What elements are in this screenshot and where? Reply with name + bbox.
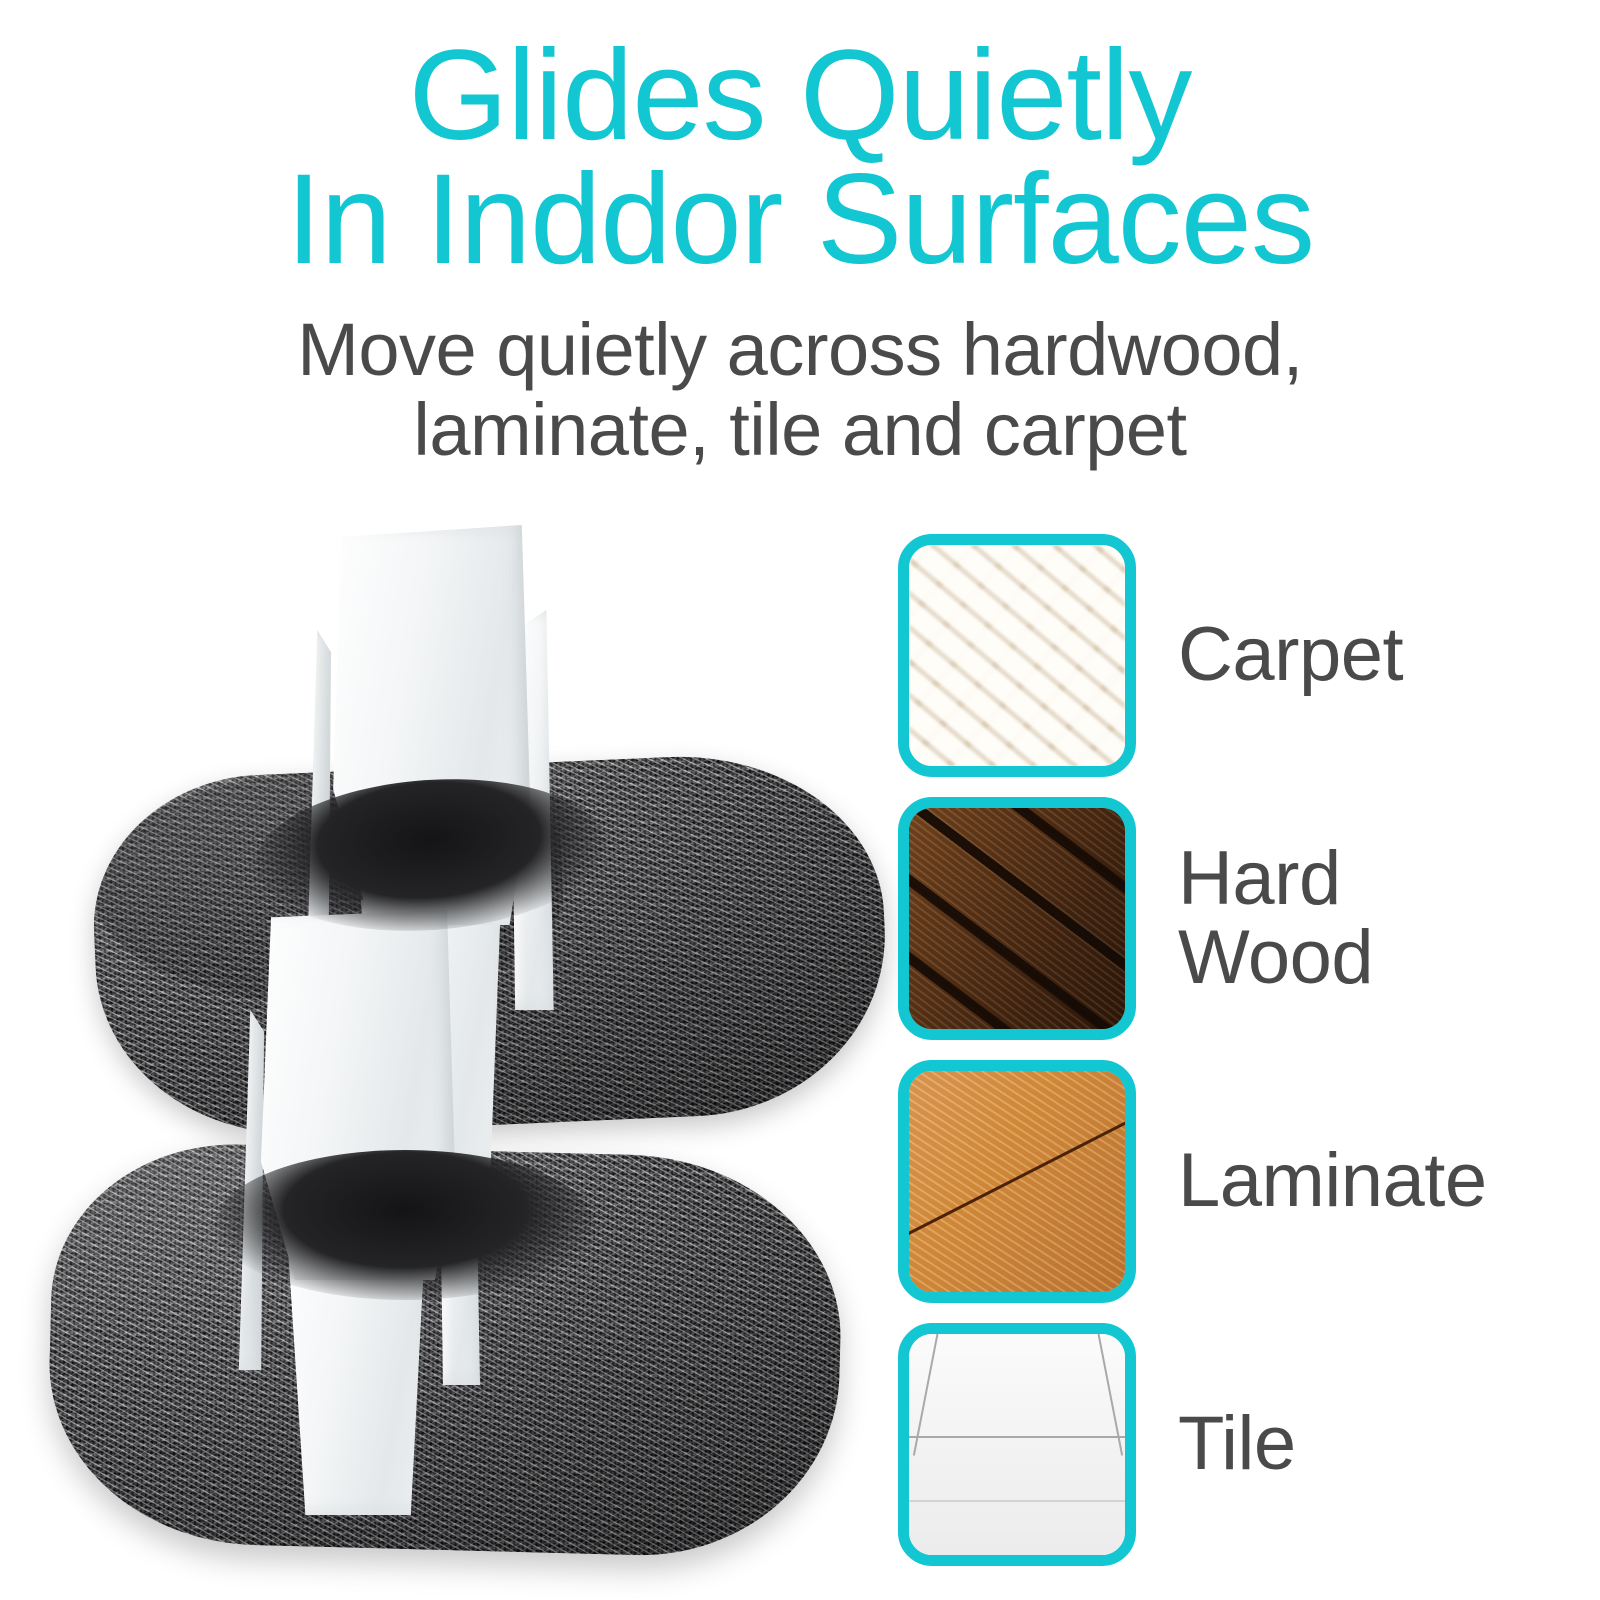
surface-item-laminate: Laminate [898, 1060, 1578, 1303]
surface-label-tile: Tile [1178, 1405, 1296, 1483]
surface-type-list: Carpet Hard Wood Laminate Tile [898, 534, 1578, 1566]
header-block: Glides Quietly In Inddor Surfaces Move q… [0, 0, 1600, 470]
tile-thumbnail [898, 1323, 1136, 1566]
headline-line-2: In Inddor Surfaces [0, 158, 1600, 282]
surface-label-carpet: Carpet [1178, 616, 1403, 694]
tile-grout-line [909, 1500, 1125, 1502]
page-subtitle: Move quietly across hardwood, laminate, … [0, 282, 1600, 470]
slipper-opening-lower [215, 1150, 595, 1300]
carpet-thumbnail [898, 534, 1136, 777]
hardwood-texture-icon [909, 808, 1125, 1029]
tile-grout-line [909, 1436, 1125, 1438]
surface-item-carpet: Carpet [898, 534, 1578, 777]
subtitle-line-1: Move quietly across hardwood, [297, 308, 1303, 391]
tile-texture-icon [909, 1334, 1125, 1555]
product-photo [40, 510, 890, 1590]
laminate-thumbnail [898, 1060, 1136, 1303]
laminate-texture-icon [909, 1071, 1125, 1292]
surface-item-hardwood: Hard Wood [898, 797, 1578, 1040]
laminate-seam-line [898, 1116, 1136, 1246]
headline-line-1: Glides Quietly [409, 24, 1192, 167]
surface-item-tile: Tile [898, 1323, 1578, 1566]
carpet-texture-icon [909, 545, 1125, 766]
subtitle-line-2: laminate, tile and carpet [0, 390, 1600, 470]
hardwood-thumbnail [898, 797, 1136, 1040]
surface-label-laminate: Laminate [1178, 1142, 1487, 1220]
page-headline: Glides Quietly In Inddor Surfaces [0, 0, 1600, 282]
surface-label-hardwood: Hard Wood [1178, 840, 1373, 997]
